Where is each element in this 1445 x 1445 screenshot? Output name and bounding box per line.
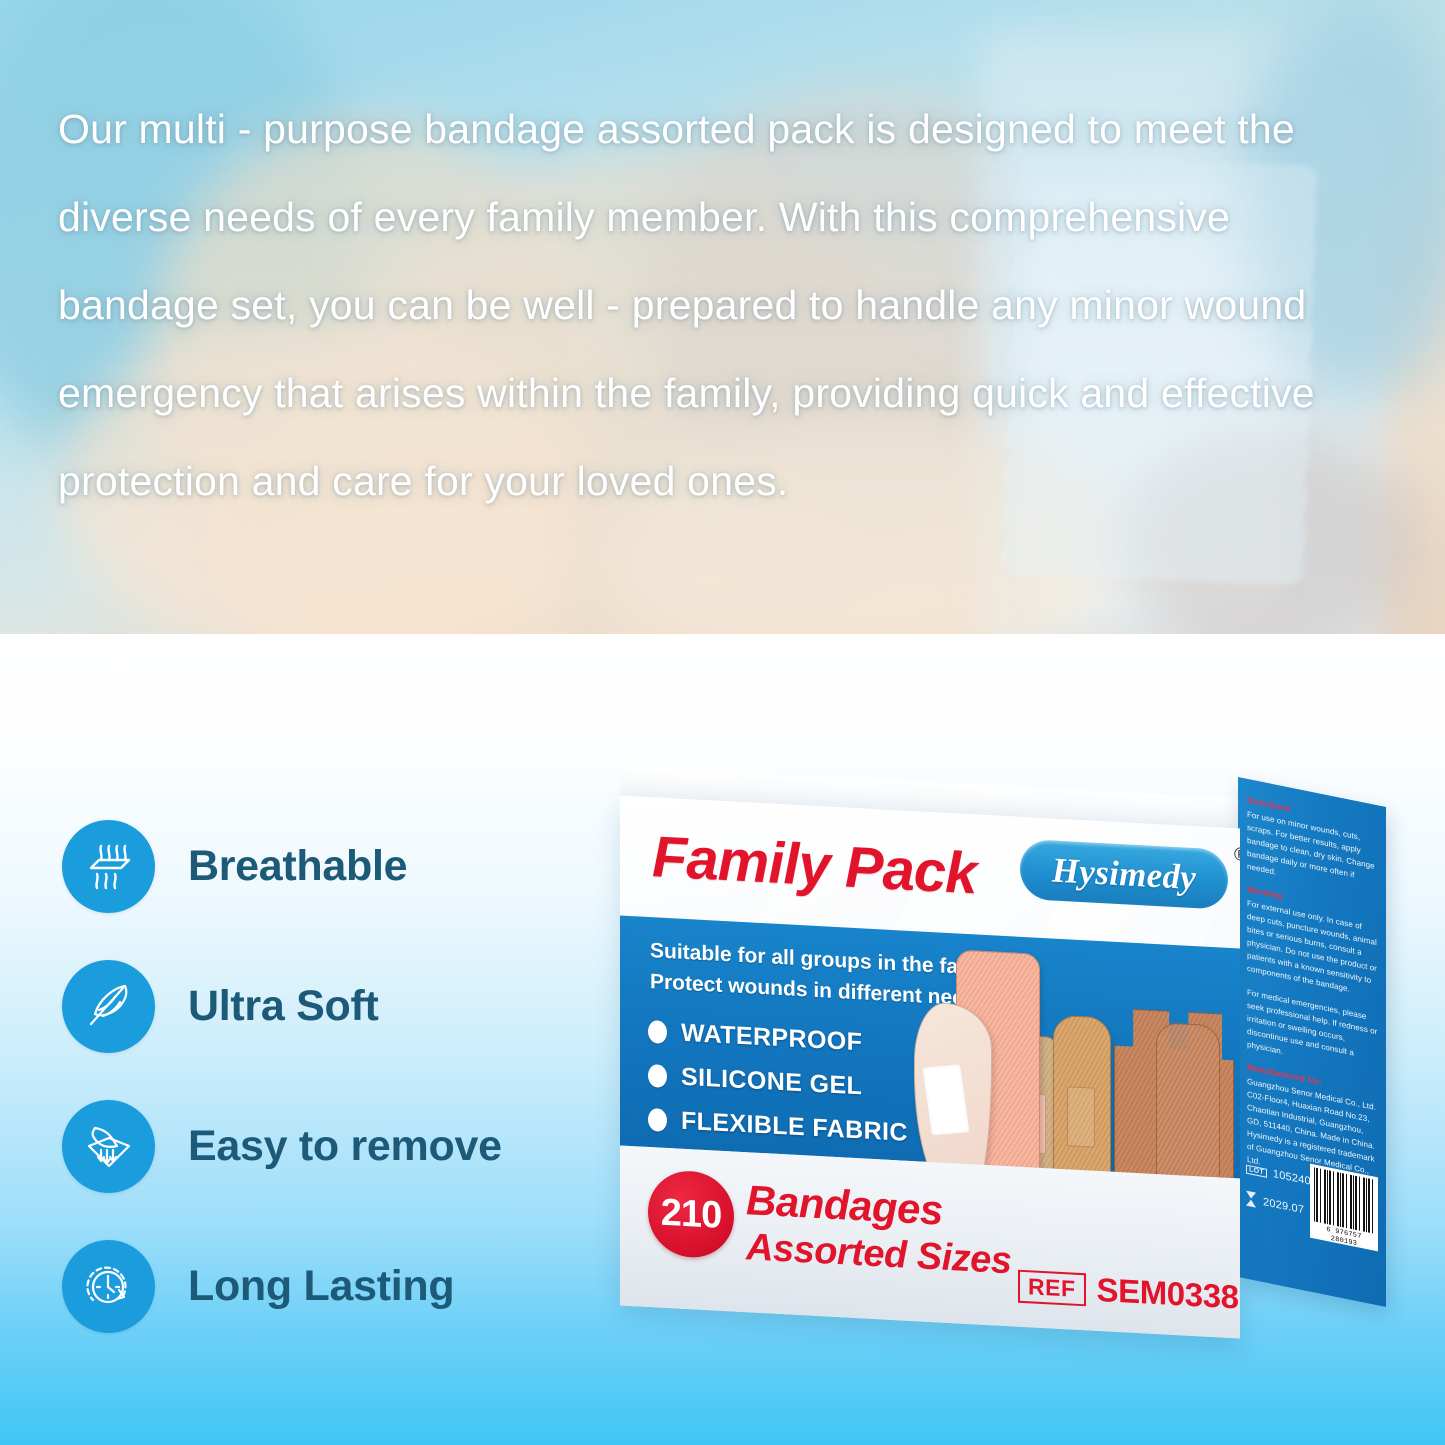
bandage-count-badge: 210 [648, 1169, 734, 1260]
hourglass-icon [1246, 1191, 1256, 1208]
bandage-count: 210 [661, 1191, 721, 1237]
feature-item-breathable: Breathable [62, 806, 622, 926]
feature-label: Breathable [188, 842, 407, 891]
product-box: Directions For use on minor wounds, cuts… [598, 782, 1398, 1342]
feather-icon [62, 960, 155, 1053]
brand-name: Hysimedy [1052, 850, 1196, 898]
expiry-line: 2029.07 [1246, 1191, 1304, 1218]
breathable-airflow-icon [62, 820, 155, 913]
clock-rotate-icon [62, 1240, 155, 1333]
bullet-item: SILICONE GEL [648, 1061, 908, 1104]
feature-item-easy-to-remove: Easy to remove [62, 1086, 622, 1206]
bullet-dot-icon [648, 1108, 667, 1132]
count-label-line2: Assorted Sizes [746, 1226, 1011, 1283]
feature-label: Long Lasting [188, 1262, 454, 1311]
feature-list: Breathable Ultra Soft [62, 806, 622, 1366]
ref-label: REF [1018, 1269, 1086, 1306]
bullet-dot-icon [648, 1020, 667, 1044]
lot-label: LOT [1246, 1164, 1267, 1177]
hero-banner: Our multi - purpose bandage assorted pac… [0, 0, 1445, 634]
box-front-face: Family Pack Hysimedy ® Suitable for all … [620, 795, 1240, 1338]
hero-description-text: Our multi - purpose bandage assorted pac… [58, 85, 1398, 525]
product-marketing-image: Our multi - purpose bandage assorted pac… [0, 0, 1445, 1445]
box-side-panel: Directions For use on minor wounds, cuts… [1238, 777, 1386, 1307]
barcode: 6 976757 280193 [1310, 1164, 1378, 1252]
brand-logo: Hysimedy [1020, 839, 1228, 910]
expiry-value: 2029.07 [1263, 1196, 1304, 1216]
feature-label: Easy to remove [188, 1122, 502, 1171]
feature-item-ultra-soft: Ultra Soft [62, 946, 622, 1066]
ref-block: REF SEM0338 [1018, 1267, 1239, 1317]
count-label-line1: Bandages [746, 1176, 943, 1234]
features-and-product-panel: Breathable Ultra Soft [0, 634, 1445, 1445]
bullet-item: FLEXIBLE FABRIC [648, 1105, 908, 1148]
bullet-label: FLEXIBLE FABRIC [681, 1107, 908, 1148]
feature-label: Ultra Soft [188, 982, 379, 1031]
registered-trademark-icon: ® [1234, 844, 1240, 867]
bullet-label: SILICONE GEL [681, 1063, 862, 1102]
peel-off-layers-icon [62, 1100, 155, 1193]
product-title: Family Pack [652, 823, 976, 907]
ref-code: SEM0338 [1097, 1271, 1239, 1317]
barcode-bars [1314, 1167, 1374, 1233]
bullet-item: WATERPROOF [648, 1017, 908, 1060]
feature-item-long-lasting: Long Lasting [62, 1226, 622, 1346]
box-front-footer: 210 Bandages Assorted Sizes REF SEM0338 [620, 1145, 1240, 1338]
bullet-label: WATERPROOF [681, 1019, 862, 1058]
emergency-text: For medical emergencies, please seek pro… [1247, 986, 1379, 1078]
bullet-dot-icon [648, 1064, 667, 1088]
